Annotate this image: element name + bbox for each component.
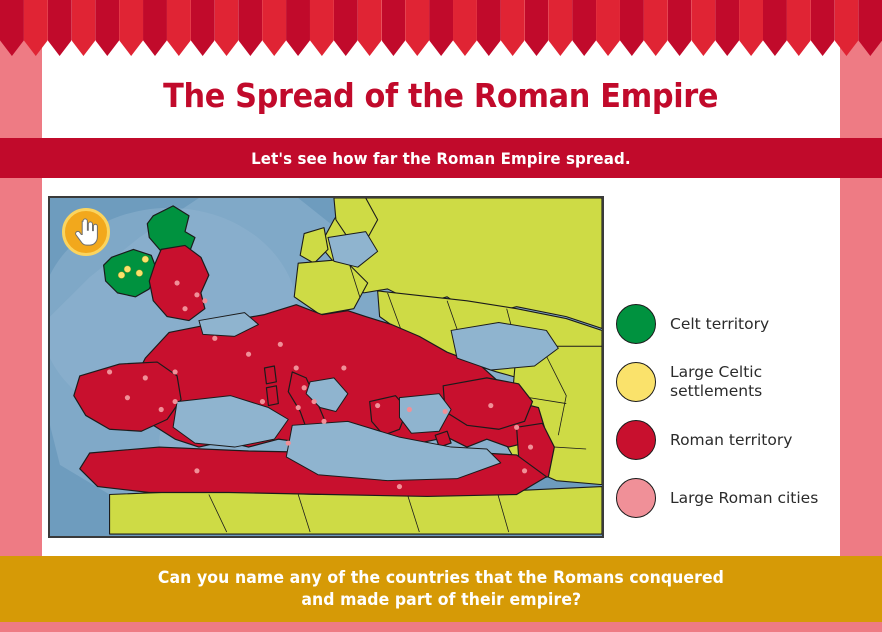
bunting-pennant (691, 0, 715, 56)
legend-item-label: Celt territory (670, 315, 769, 334)
legend-item-label: Large Roman cities (670, 489, 818, 508)
subtitle-text: Let's see how far the Roman Empire sprea… (251, 149, 631, 168)
legend-swatch-roman-territory (616, 420, 656, 460)
bunting-pennant (858, 0, 882, 56)
subtitle-band: Let's see how far the Roman Empire sprea… (0, 138, 882, 178)
legend-swatch-celt-territory (616, 304, 656, 344)
bunting-pennant (382, 0, 406, 56)
bunting-pennant (143, 0, 167, 56)
bunting-pennant (668, 0, 692, 56)
bunting-pennant (262, 0, 286, 56)
bunting-pennant (501, 0, 525, 56)
legend-item: Large Celtic settlements (616, 362, 834, 402)
bunting-pennant (715, 0, 739, 56)
bunting-pennant (835, 0, 859, 56)
roman-empire-map[interactable] (48, 196, 604, 538)
bunting-pennant (238, 0, 262, 56)
bunting-pennant (0, 0, 24, 56)
bunting-pennant (644, 0, 668, 56)
bunting-pennant (572, 0, 596, 56)
bunting-pennant (24, 0, 48, 56)
bunting-pennant (72, 0, 96, 56)
bunting-pennant (596, 0, 620, 56)
bunting-pennant (167, 0, 191, 56)
question-line-1: Can you name any of the countries that t… (158, 567, 724, 589)
bunting-banner (0, 0, 882, 56)
legend-item-label: Large Celtic settlements (670, 363, 820, 401)
question-band: Can you name any of the countries that t… (0, 556, 882, 622)
bunting-pennant (429, 0, 453, 56)
bunting-pennant (191, 0, 215, 56)
legend-swatch-celtic-settlements (616, 362, 656, 402)
bunting-pennant (811, 0, 835, 56)
bunting-pennant (525, 0, 549, 56)
bunting-pennant (620, 0, 644, 56)
bunting-pennant (48, 0, 72, 56)
bunting-pennant (119, 0, 143, 56)
bunting-pennant (405, 0, 429, 56)
map-legend: Celt territory Large Celtic settlements … (616, 304, 834, 518)
legend-item: Celt territory (616, 304, 834, 344)
bunting-pennant (215, 0, 239, 56)
slide-page: The Spread of the Roman Empire Let's see… (0, 0, 882, 632)
bunting-pennant (548, 0, 572, 56)
bunting-pennant (453, 0, 477, 56)
bunting-pennant (334, 0, 358, 56)
bunting-pennant (310, 0, 334, 56)
pointing-hand-icon (73, 218, 99, 246)
legend-item-label: Roman territory (670, 431, 792, 450)
bunting-pennant (358, 0, 382, 56)
bunting-pennant (763, 0, 787, 56)
question-line-2: and made part of their empire? (301, 589, 581, 611)
map-and-legend: Celt territory Large Celtic settlements … (48, 196, 834, 538)
legend-item: Large Roman cities (616, 478, 834, 518)
bunting-pennant (95, 0, 119, 56)
legend-item: Roman territory (616, 420, 834, 460)
bunting-pennant (787, 0, 811, 56)
bunting-pennant (739, 0, 763, 56)
bunting-pennant (477, 0, 501, 56)
pointing-hand-button[interactable] (62, 208, 110, 256)
bunting-pennant (286, 0, 310, 56)
title-zone: The Spread of the Roman Empire (42, 52, 840, 138)
page-title: The Spread of the Roman Empire (164, 76, 719, 115)
legend-swatch-roman-cities (616, 478, 656, 518)
